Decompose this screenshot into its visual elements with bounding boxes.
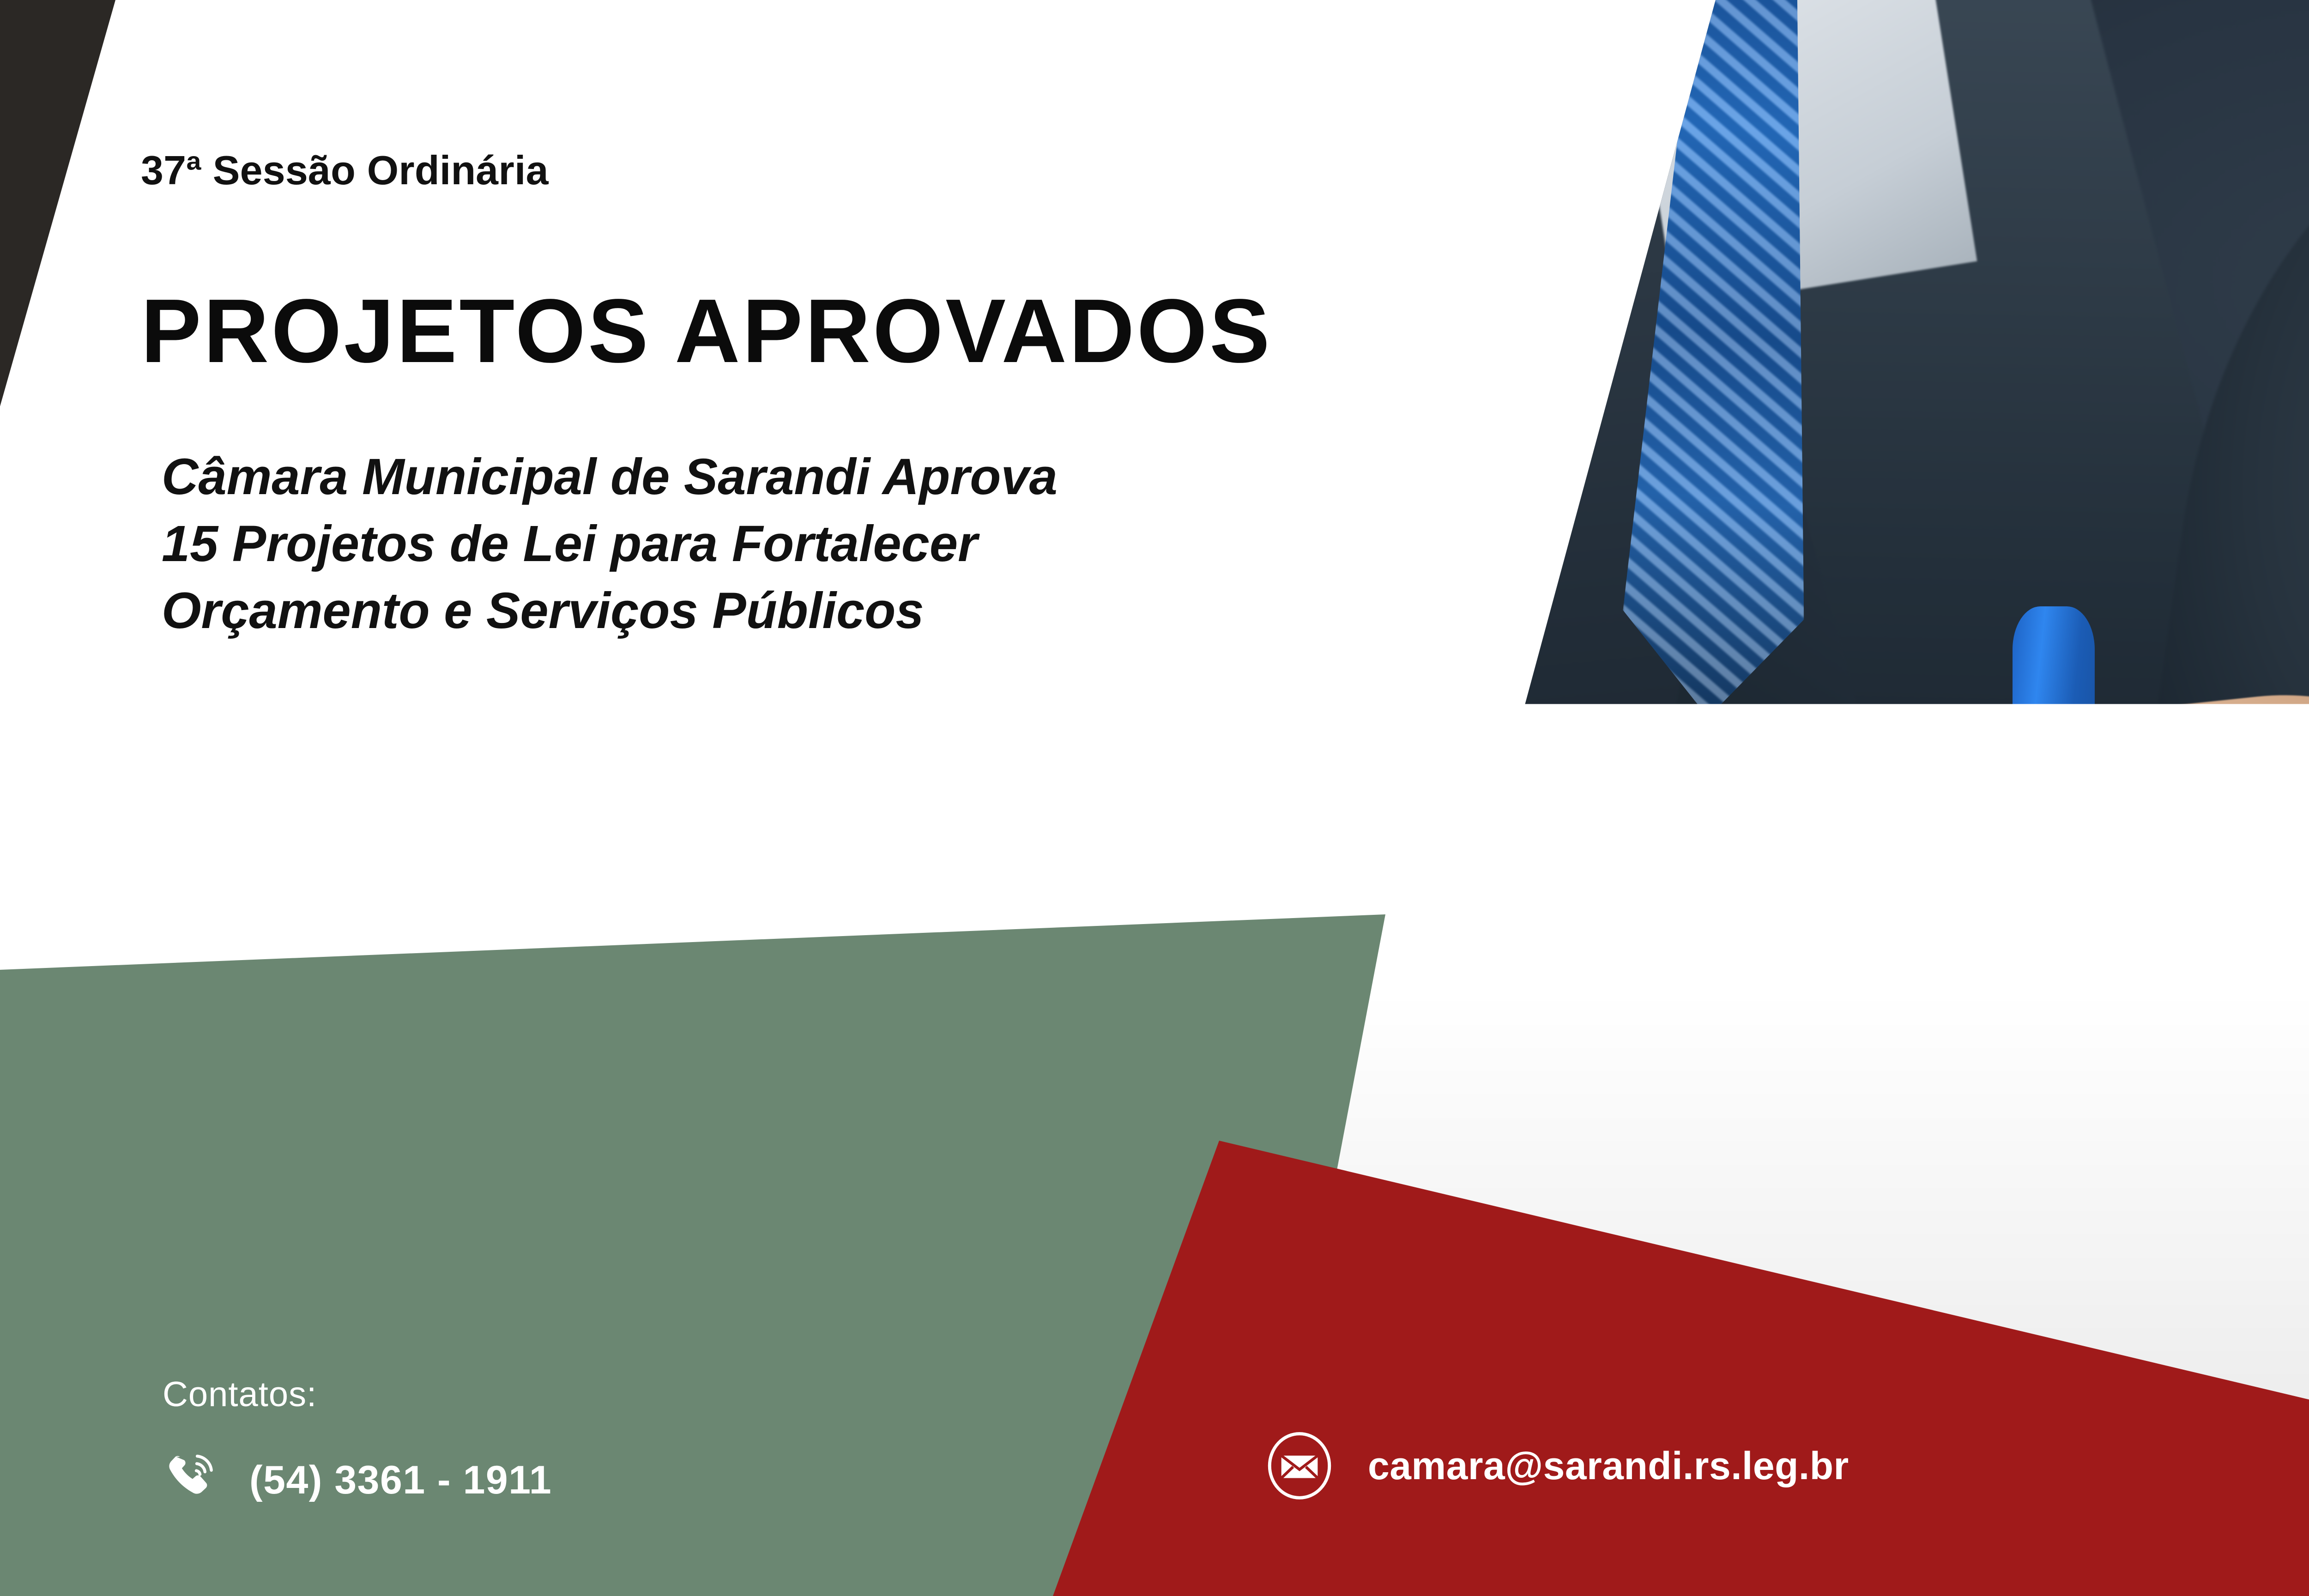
email-address: camara@sarandi.rs.leg.br — [1368, 1444, 1849, 1488]
phone-contact[interactable]: (54) 3361 - 1911 — [163, 1450, 552, 1510]
top-left-dark-triangle — [0, 0, 115, 406]
banner-root: 37ª Sessão Ordinária PROJETOS APROVADOS … — [0, 0, 2309, 1596]
session-kicker: 37ª Sessão Ordinária — [141, 147, 549, 194]
phone-number: (54) 3361 - 1911 — [249, 1457, 552, 1503]
subheadline-line-1: Câmara Municipal de Sarandi Aprova — [162, 443, 1058, 510]
phone-icon — [163, 1450, 223, 1510]
page-title: PROJETOS APROVADOS — [141, 279, 1272, 383]
subheadline-line-3: Orçamento e Serviços Públicos — [162, 577, 1058, 644]
envelope-icon — [1265, 1432, 1334, 1500]
contacts-label: Contatos: — [163, 1374, 317, 1415]
email-contact[interactable]: camara@sarandi.rs.leg.br — [1265, 1432, 1849, 1500]
subheadline-line-2: 15 Projetos de Lei para Fortalecer — [162, 510, 1058, 577]
subheadline: Câmara Municipal de Sarandi Aprova 15 Pr… — [162, 443, 1058, 645]
